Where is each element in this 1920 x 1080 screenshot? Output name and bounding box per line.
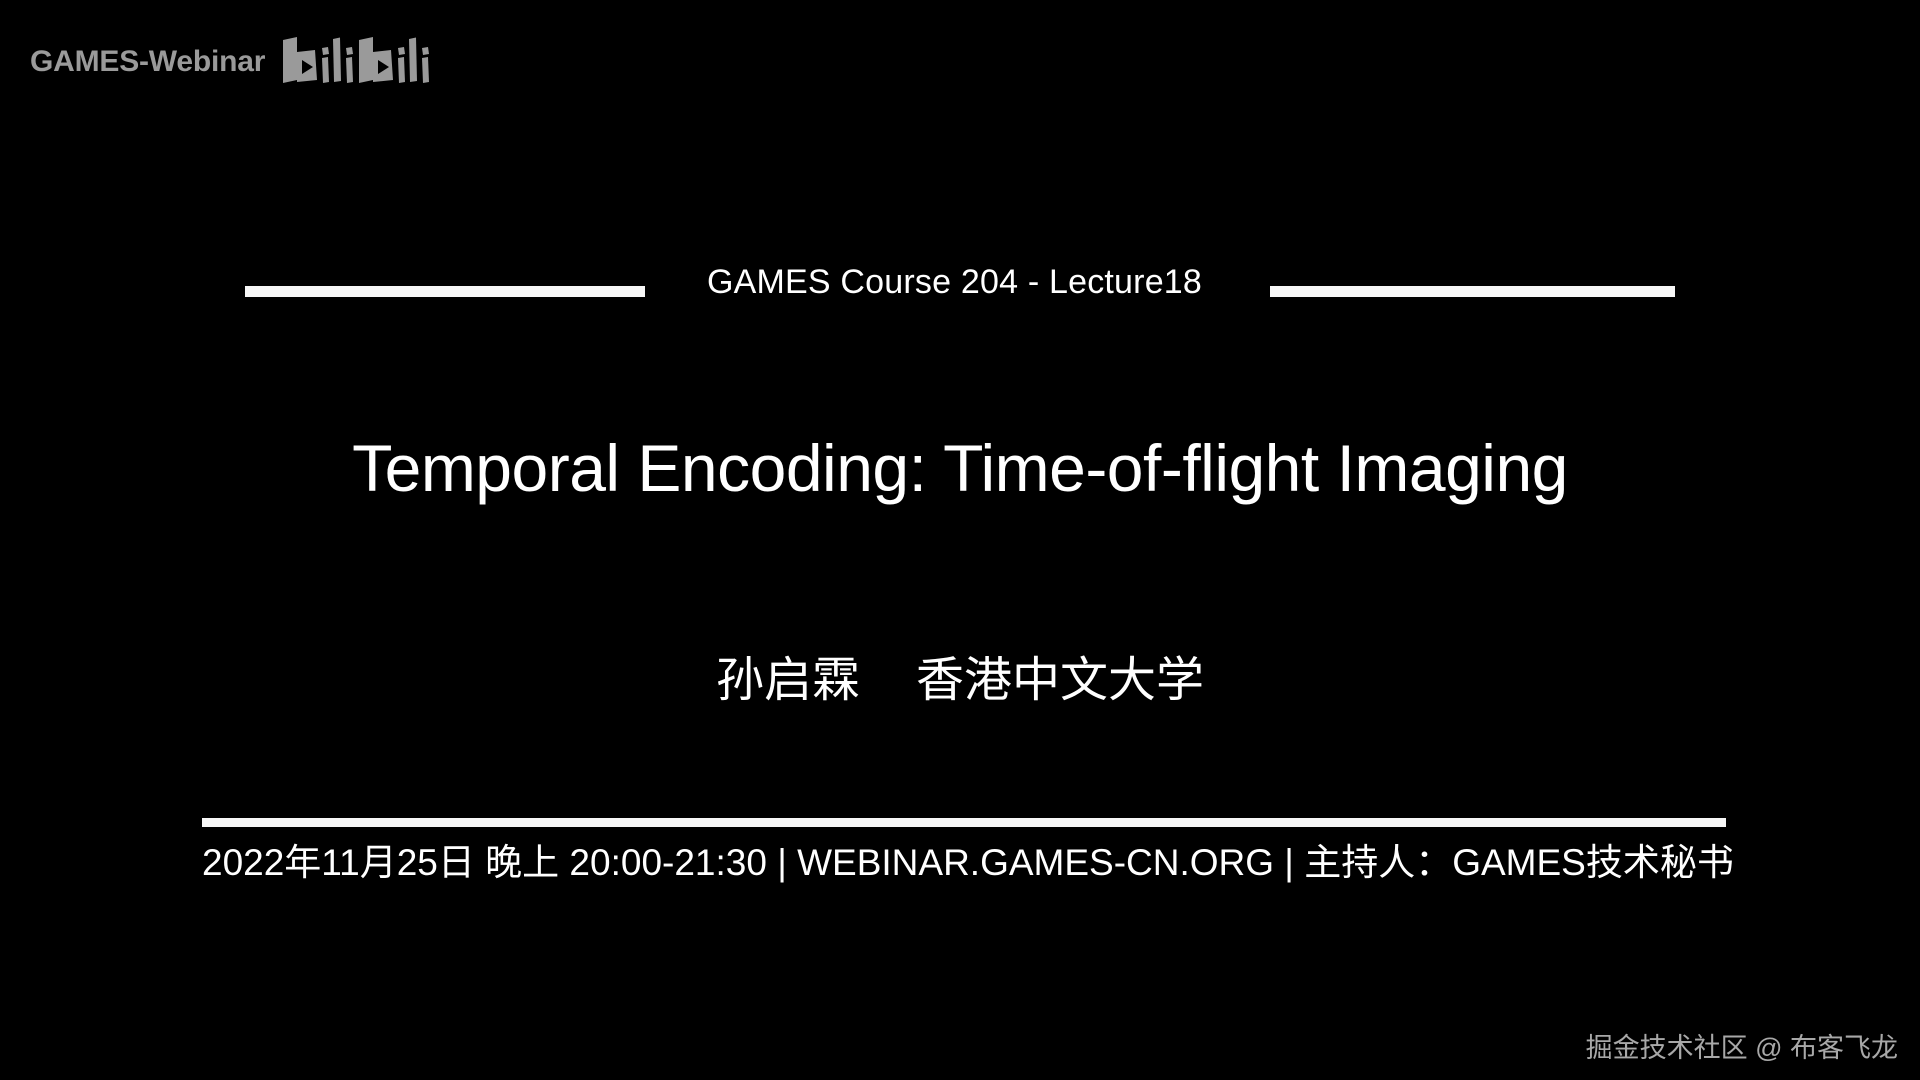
brand-row: GAMES-Webinar: [30, 32, 433, 92]
speaker-name: 孙启霖: [716, 654, 860, 707]
title-slide: GAMES-Webinar: [0, 0, 1920, 1080]
page-title: Temporal Encoding: Time-of-flight Imagin…: [0, 432, 1920, 505]
footer-info-line: 2022年11月25日 晚上 20:00-21:30 | WEBINAR.GAM…: [202, 840, 1732, 886]
course-label: GAMES Course 204 - Lecture18: [707, 265, 1202, 299]
divider-rule-left: [245, 286, 645, 297]
bilibili-logo: [281, 36, 433, 88]
watermark: 掘金技术社区 @ 布客飞龙: [1586, 1035, 1898, 1062]
footer-divider-rule: [202, 818, 1726, 827]
divider-rule-right: [1270, 286, 1675, 297]
speaker-affiliation: 香港中文大学: [916, 654, 1204, 707]
brand-title: GAMES-Webinar: [30, 47, 265, 77]
course-header-row: GAMES Course 204 - Lecture18: [0, 258, 1920, 306]
speaker-row: 孙启霖香港中文大学: [0, 655, 1920, 708]
